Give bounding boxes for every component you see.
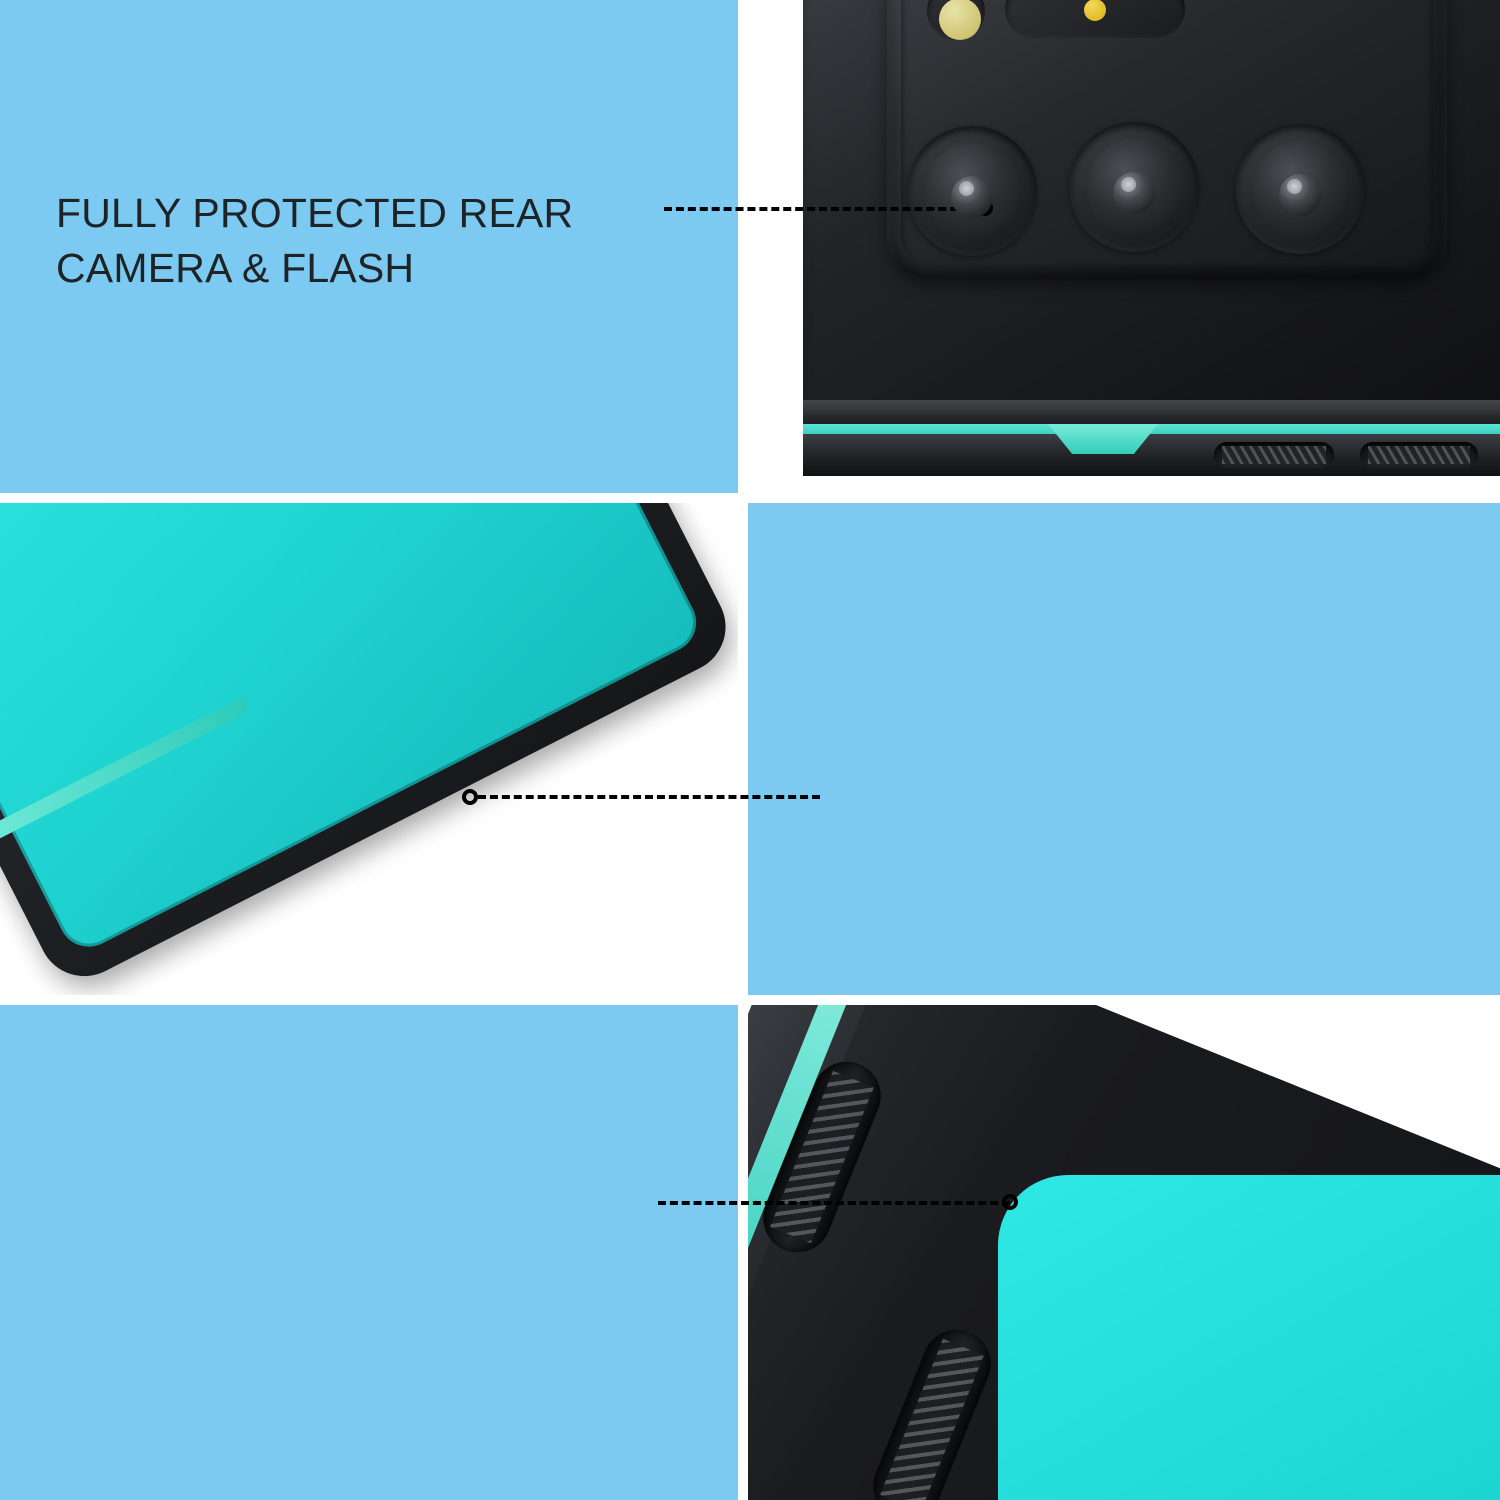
rear-camera-illustration — [748, 0, 1500, 493]
usb-port-illustration — [0, 503, 738, 995]
camera-callout-text: FULLY PROTECTED REAR CAMERA & FLASH — [56, 186, 676, 296]
leader-line-sound — [658, 1201, 1010, 1205]
lens-glint — [1287, 179, 1302, 194]
lens-pupil — [1279, 174, 1321, 216]
phone-screen — [0, 503, 706, 957]
phone-screen — [998, 1175, 1500, 1500]
camera-lens-3 — [1235, 124, 1365, 254]
leader-line-camera — [664, 207, 982, 211]
camera-island — [887, 0, 1447, 280]
speaker-cutout-photo-panel — [748, 1005, 1500, 1500]
case-black-shell — [803, 0, 1500, 450]
speaker-cutout-1 — [1214, 442, 1334, 468]
rotate-usb-callout-text-panel: EASY TO ROTATE ONLY WORKS FOR ORIGINAL L… — [748, 503, 1500, 995]
camera-lens-1 — [907, 126, 1037, 256]
leader-endpoint-usb — [462, 789, 478, 805]
leader-line-usb — [478, 795, 820, 799]
sound-callout-text-panel: EXCLUSIVE DESIGN DOES NOT AFFECT THE SOU… — [0, 1005, 738, 1500]
lens-glint — [959, 181, 974, 196]
leader-endpoint-sound — [1002, 1194, 1018, 1210]
speaker-cutout-2 — [1360, 442, 1478, 468]
phone-case-body — [0, 503, 738, 992]
usb-port-photo-panel — [0, 503, 738, 995]
lens-pupil — [1113, 172, 1155, 214]
lens-glint — [1121, 177, 1136, 192]
sensor-led-icon — [1084, 0, 1106, 21]
lens-pupil — [951, 176, 993, 218]
flash-led-icon — [939, 0, 981, 40]
infographic-canvas: FULLY PROTECTED REAR CAMERA & FLASH — [0, 0, 1500, 1500]
rear-camera-photo-panel — [748, 0, 1500, 493]
camera-lens-2 — [1069, 122, 1199, 252]
camera-callout-text-panel: FULLY PROTECTED REAR CAMERA & FLASH — [0, 0, 738, 493]
speaker-illustration — [748, 1005, 1500, 1500]
